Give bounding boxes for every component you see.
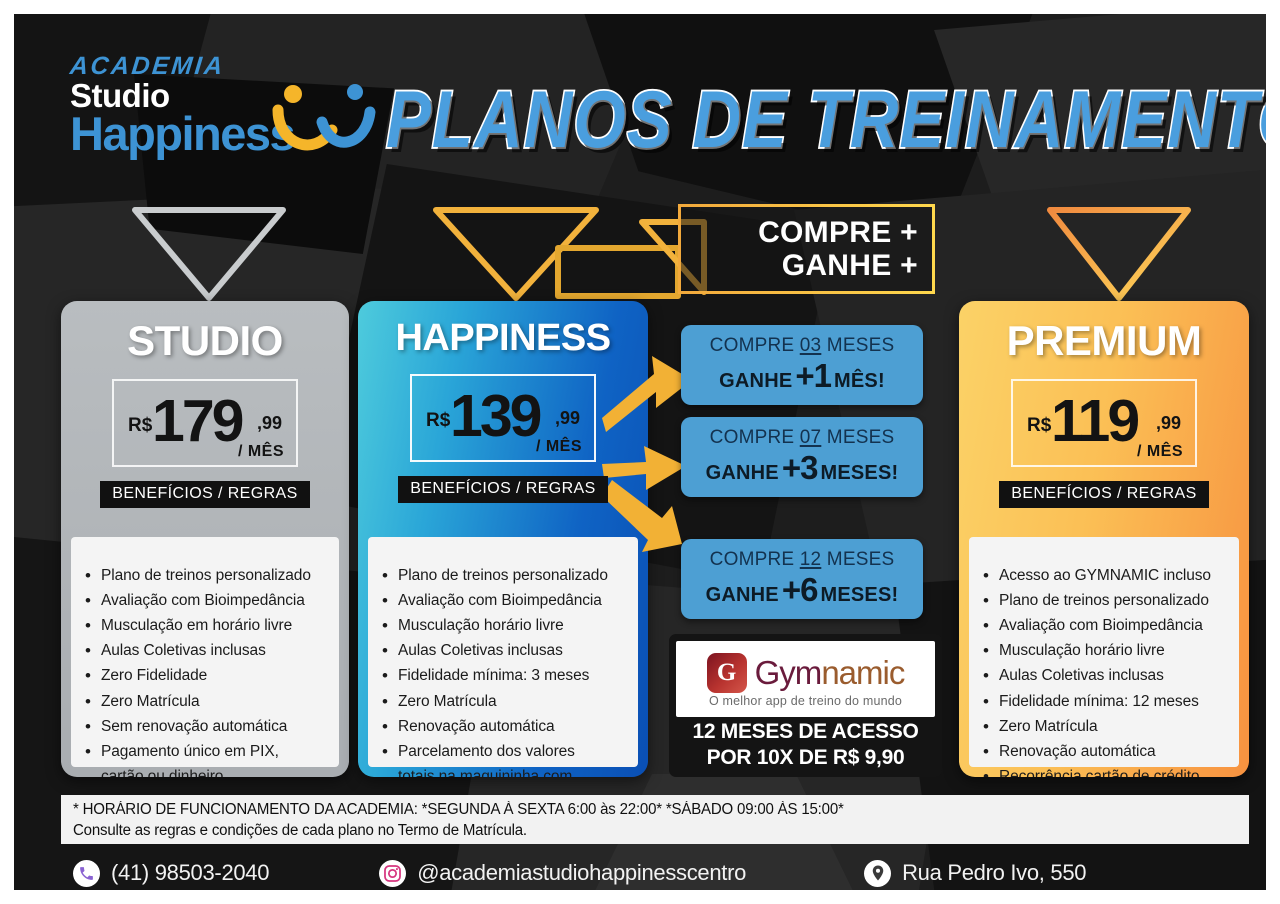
offer-buy-months: 07 (800, 427, 822, 448)
price-cents: ,99 (1156, 413, 1181, 434)
contact-address-text: Rua Pedro Ivo, 550 (902, 860, 1086, 886)
list-item: Plano de treinos personalizado (979, 588, 1231, 613)
benefits-list-studio: Plano de treinos personalizado Avaliação… (81, 563, 331, 777)
location-pin-icon (864, 860, 891, 887)
offer-get-word: GANHE (706, 462, 779, 485)
benefits-header-premium: BENEFÍCIOS / REGRAS (999, 481, 1208, 508)
funnel-triangle-premium-icon (1044, 204, 1194, 304)
list-item: Musculação horário livre (979, 638, 1231, 663)
price-amount: 179 (152, 387, 241, 455)
price-amount: 119 (1051, 387, 1137, 455)
offer-get-big: +3 (782, 449, 818, 487)
offer-box-3-months[interactable]: COMPRE 03 MESES GANHE +1 MÊS! (681, 325, 923, 405)
list-item: Aulas Coletivas inclusas (979, 663, 1231, 688)
benefits-header-happiness: BENEFÍCIOS / REGRAS (398, 476, 607, 503)
list-item: Recorrência cartão de crédito, (979, 764, 1231, 777)
gymnamic-logo-card: G Gymnamic O melhor app de treino do mun… (676, 641, 935, 717)
price-amount: 139 (450, 382, 539, 450)
contact-phone-text: (41) 98503-2040 (111, 860, 269, 886)
list-item: Avaliação com Bioimpedância (378, 588, 630, 613)
compre-ganhe-line1: COMPRE + (758, 217, 918, 248)
offer-buy-months: 12 (800, 549, 822, 570)
price-currency: R$ (426, 410, 450, 432)
list-item: Aulas Coletivas inclusas (378, 638, 630, 663)
list-item-continuation: totais na maquininha com (378, 764, 630, 777)
offer-get-big: +6 (782, 571, 818, 609)
offer-buy-line: COMPRE 12 MESES (710, 549, 895, 571)
gymnamic-logo-icon: G (707, 653, 747, 693)
plan-card-premium[interactable]: PREMIUM R$ 119 ,99 / MÊS BENEFÍCIOS / RE… (959, 301, 1249, 777)
instagram-icon (379, 860, 406, 887)
list-item: Zero Matrícula (378, 689, 630, 714)
offer-box-12-months[interactable]: COMPRE 12 MESES GANHE +6 MESES! (681, 539, 923, 619)
list-item: Avaliação com Bioimpedância (81, 588, 331, 613)
brand-academia: ACADEMIA (69, 54, 382, 79)
offer-get-line: GANHE +1 MÊS! (719, 357, 885, 395)
funnel-triangle-happiness-icon (430, 204, 710, 304)
offer-box-7-months[interactable]: COMPRE 07 MESES GANHE +3 MESES! (681, 417, 923, 497)
compre-ganhe-line2: GANHE + (782, 250, 918, 281)
list-item: Pagamento único em PIX, (81, 739, 331, 764)
offer-buy-line: COMPRE 03 MESES (710, 335, 895, 357)
page-title: PLANOS DE TREINAMENTO (386, 58, 1243, 180)
offer-get-word: GANHE (706, 584, 779, 607)
list-item: Musculação horário livre (378, 613, 630, 638)
list-item: Aulas Coletivas inclusas (81, 638, 331, 663)
price-period: / MÊS (1137, 443, 1183, 461)
benefits-list-happiness: Plano de treinos personalizado Avaliação… (378, 563, 630, 777)
list-item: Renovação automática (979, 739, 1231, 764)
list-item: Plano de treinos personalizado (378, 563, 630, 588)
offer-get-big: +1 (795, 357, 831, 395)
plan-title-premium: PREMIUM (959, 317, 1249, 365)
contact-address[interactable]: Rua Pedro Ivo, 550 (864, 860, 1086, 887)
offer-buy-prefix: COMPRE (710, 335, 795, 356)
list-item: Sem renovação automática (81, 714, 331, 739)
list-item: Fidelidade mínima: 3 meses (378, 663, 630, 688)
opening-hours-strip: * HORÁRIO DE FUNCIONAMENTO DA ACADEMIA: … (61, 795, 1249, 844)
hours-line-1: * HORÁRIO DE FUNCIONAMENTO DA ACADEMIA: … (73, 800, 1204, 821)
gymnamic-wordmark: Gymnamic (755, 654, 905, 692)
price-box-happiness: R$ 139 ,99 / MÊS (410, 374, 596, 462)
poster-canvas: ACADEMIA Studio Happiness PLANOS DE TREI… (14, 14, 1266, 890)
hours-line-2: Consulte as regras e condições de cada p… (73, 821, 1204, 842)
list-item: Renovação automática (378, 714, 630, 739)
contact-instagram-text: @academiastudiohappinesscentro (417, 860, 746, 886)
list-item: Zero Matrícula (81, 689, 331, 714)
offer-buy-suffix: MESES (827, 335, 895, 356)
list-item: Musculação em horário livre (81, 613, 331, 638)
list-item: Acesso ao GYMNAMIC incluso (979, 563, 1231, 588)
price-box-premium: R$ 119 ,99 / MÊS (1011, 379, 1197, 467)
list-item: Zero Fidelidade (81, 663, 331, 688)
list-item: Plano de treinos personalizado (81, 563, 331, 588)
gymnamic-tagline: O melhor app de treino do mundo (709, 694, 902, 708)
gymnamic-offer-line2: POR 10X DE R$ 9,90 (676, 746, 935, 769)
offer-buy-prefix: COMPRE (710, 549, 795, 570)
poster-root: ACADEMIA Studio Happiness PLANOS DE TREI… (0, 0, 1280, 904)
price-box-studio: R$ 179 ,99 / MÊS (112, 379, 298, 467)
funnel-triangle-studio-icon (129, 204, 289, 304)
smile-logo-icon (270, 82, 382, 166)
gymnamic-promo[interactable]: G Gymnamic O melhor app de treino do mun… (669, 634, 942, 777)
phone-icon (73, 860, 100, 887)
offer-get-line: GANHE +6 MESES! (706, 571, 899, 609)
plan-title-studio: STUDIO (61, 317, 349, 365)
list-item: Fidelidade mínima: 12 meses (979, 689, 1231, 714)
price-currency: R$ (1027, 415, 1051, 437)
contact-instagram[interactable]: @academiastudiohappinesscentro (379, 860, 746, 887)
offer-get-line: GANHE +3 MESES! (706, 449, 899, 487)
list-item: Avaliação com Bioimpedância (979, 613, 1231, 638)
offer-buy-line: COMPRE 07 MESES (710, 427, 895, 449)
price-currency: R$ (128, 415, 152, 437)
brand-logo: ACADEMIA Studio Happiness (70, 54, 380, 176)
offer-get-word: GANHE (719, 370, 792, 393)
benefits-panel-studio: Plano de treinos personalizado Avaliação… (71, 537, 339, 767)
benefits-list-premium: Acesso ao GYMNAMIC incluso Plano de trei… (979, 563, 1231, 777)
price-period: / MÊS (238, 443, 284, 461)
offer-buy-suffix: MESES (827, 427, 895, 448)
contact-strip: (41) 98503-2040 @academiastudiohappiness… (61, 852, 1249, 890)
offer-buy-suffix: MESES (827, 549, 895, 570)
price-cents: ,99 (555, 408, 580, 429)
list-item: Zero Matrícula (979, 714, 1231, 739)
contact-phone[interactable]: (41) 98503-2040 (73, 860, 269, 887)
offer-get-unit: MÊS! (834, 370, 885, 393)
benefits-header-studio: BENEFÍCIOS / REGRAS (100, 481, 309, 508)
gymnamic-offer-line1: 12 MESES DE ACESSO (676, 720, 935, 743)
gymnamic-name-part2: namic (821, 654, 904, 691)
offer-buy-months: 03 (800, 335, 822, 356)
price-cents: ,99 (257, 413, 282, 434)
price-period: / MÊS (536, 438, 582, 456)
plan-card-studio[interactable]: STUDIO R$ 179 ,99 / MÊS BENEFÍCIOS / REG… (61, 301, 349, 777)
list-item: Parcelamento dos valores (378, 739, 630, 764)
offer-get-unit: MESES! (820, 584, 898, 607)
list-item-continuation: cartão ou dinheiro (81, 764, 331, 777)
offer-buy-prefix: COMPRE (710, 427, 795, 448)
gymnamic-name-part1: Gym (755, 654, 822, 691)
benefits-panel-happiness: Plano de treinos personalizado Avaliação… (368, 537, 638, 767)
benefits-panel-premium: Acesso ao GYMNAMIC incluso Plano de trei… (969, 537, 1239, 767)
compre-ganhe-banner: COMPRE + GANHE + (678, 204, 935, 294)
offer-get-unit: MESES! (820, 462, 898, 485)
